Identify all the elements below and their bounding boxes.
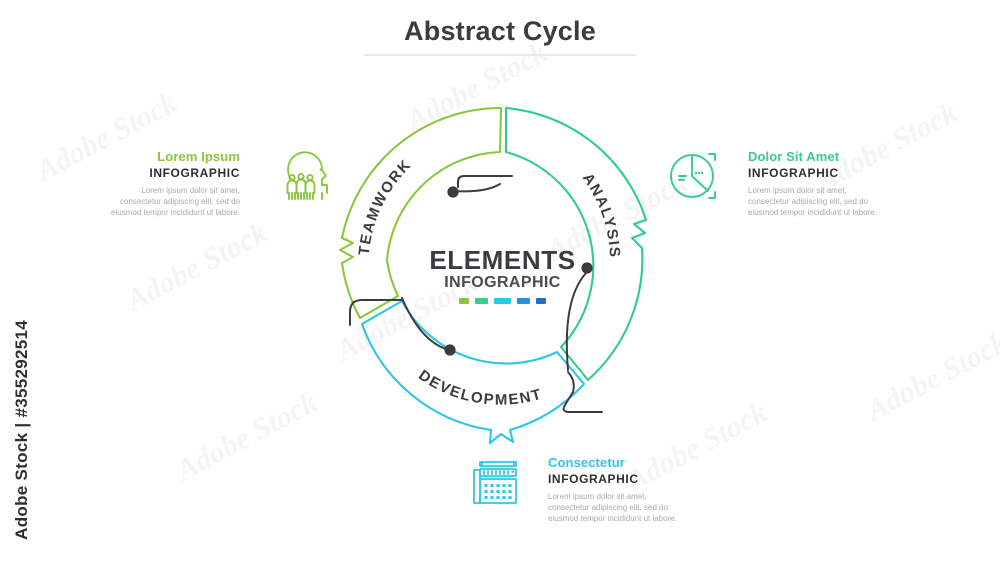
connector-teamwork-line <box>458 176 512 187</box>
calendar-icon <box>470 456 522 513</box>
connector-analysis-line <box>564 372 602 412</box>
info-block-right: Dolor Sit Amet INFOGRAPHIC Lorem ipsum d… <box>748 148 882 218</box>
center-dash <box>517 298 530 304</box>
connector-development <box>350 298 456 356</box>
connector-development-line-inner <box>402 298 446 349</box>
title-block: Abstract Cycle <box>0 14 1000 56</box>
info-body-left: Lorem ipsum dolor sit amet, consectetur … <box>108 185 240 218</box>
info-heading-right: Dolor Sit Amet <box>748 148 882 165</box>
cycle-segment-analysis[interactable]: ANALYSIS <box>506 108 646 380</box>
center-dash <box>475 298 488 304</box>
center-title: ELEMENTS <box>395 246 610 274</box>
watermark-tile: Adobe Stock <box>121 216 273 318</box>
center-dash-row <box>395 298 610 304</box>
watermark-tile: Adobe Stock <box>861 326 1000 428</box>
info-heading-left: Lorem Ipsum <box>108 148 240 165</box>
info-heading-bottom: Consectetur <box>548 454 690 471</box>
development-arc-shape <box>362 301 584 443</box>
info-body-bottom: Lorem ipsum dolor sit amet, consectetur … <box>548 491 690 524</box>
info-subheading-left: INFOGRAPHIC <box>108 165 240 181</box>
people-head-icon <box>281 151 333 208</box>
center-dash <box>536 298 546 304</box>
center-block: ELEMENTS INFOGRAPHIC <box>395 246 610 304</box>
info-block-bottom: Consectetur INFOGRAPHIC Lorem ipsum dolo… <box>548 454 690 524</box>
info-subheading-right: INFOGRAPHIC <box>748 165 882 181</box>
connector-development-dot <box>444 344 455 355</box>
center-dash <box>459 298 469 304</box>
connector-teamwork <box>447 176 512 198</box>
cycle-label-development: DEVELOPMENT <box>415 367 544 409</box>
connector-teamwork-dot <box>447 186 458 197</box>
title-divider <box>364 54 636 56</box>
watermark-tile: Adobe Stock <box>171 386 323 488</box>
cycle-segment-development[interactable]: DEVELOPMENT <box>362 301 584 443</box>
info-body-right: Lorem ipsum dolor sit amet, consectetur … <box>748 185 882 218</box>
analysis-arc-shape <box>506 108 646 380</box>
connector-teamwork-line-inner <box>453 184 500 191</box>
center-subtitle: INFOGRAPHIC <box>395 274 610 292</box>
info-block-left: Lorem Ipsum INFOGRAPHIC Lorem ipsum dolo… <box>108 148 240 218</box>
adobe-stock-watermark-label: Adobe Stock | #355292514 <box>12 320 32 540</box>
page-title: Abstract Cycle <box>0 14 1000 48</box>
info-subheading-bottom: INFOGRAPHIC <box>548 471 690 487</box>
pie-chart-icon <box>665 148 721 209</box>
center-dash <box>494 298 511 304</box>
